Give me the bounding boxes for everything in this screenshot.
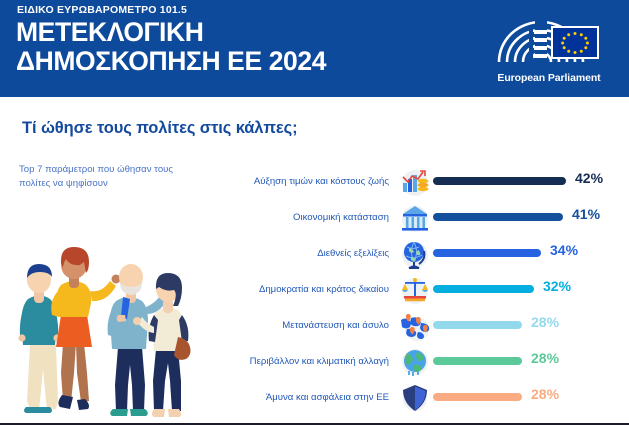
earth-globe-icon xyxy=(397,345,433,378)
poster-header: ΕΙΔΙΚΟ ΕΥΡΩΒΑΡΟΜΕΤΡΟ 101.5 ΜΕΤΕΚΛΟΓΙΚΗ Δ… xyxy=(0,0,629,97)
poster-body: Τί ώθησε τους πολίτες στις κάλπες; Top 7… xyxy=(0,97,629,423)
table-row: Διεθνείς εξελίξεις 34% xyxy=(205,237,629,270)
page-title: ΜΕΤΕΚΛΟΓΙΚΗ ΔΗΜΟΣΚΟΠΗΣΗ ΕΕ 2024 xyxy=(16,18,326,76)
bar xyxy=(433,393,522,401)
bar-label: Περιβάλλον και κλιματική αλλαγή xyxy=(205,356,397,367)
bar-track: 41% xyxy=(433,201,629,234)
bar xyxy=(433,249,541,257)
globe-stand-icon xyxy=(397,237,433,270)
bar xyxy=(433,213,563,221)
bar xyxy=(433,177,566,185)
table-row: Δημοκρατία και κράτος δικαίου xyxy=(205,273,629,306)
european-parliament-logo: European Parliament xyxy=(485,6,613,88)
bar-track: 34% xyxy=(433,237,629,270)
world-map-pins-icon xyxy=(397,309,433,342)
bar-track: 32% xyxy=(433,273,629,306)
bar xyxy=(433,357,522,365)
bar xyxy=(433,321,522,329)
bar-track: 28% xyxy=(433,345,629,378)
table-row: Περιβάλλον και κλιματική αλλαγή 28% xyxy=(205,345,629,378)
bar-value: 28% xyxy=(531,350,559,366)
logo-label: European Parliament xyxy=(485,72,613,84)
bar-label: Δημοκρατία και κράτος δικαίου xyxy=(205,284,397,295)
citizens-illustration xyxy=(6,239,202,419)
bar xyxy=(433,285,534,293)
bar-value: 42% xyxy=(575,170,603,186)
table-row: Οικονομική κατάσταση xyxy=(205,201,629,234)
bar-label: Άμυνα και ασφάλεια στην ΕΕ xyxy=(205,392,397,403)
bar-label: Διεθνείς εξελίξεις xyxy=(205,248,397,259)
table-row: Αύξηση τιμών και κόστους ζωής xyxy=(205,165,629,198)
eurobarometer-kicker: ΕΙΔΙΚΟ ΕΥΡΩΒΑΡΟΜΕΤΡΟ 101.5 xyxy=(17,4,187,16)
bar-value: 28% xyxy=(531,314,559,330)
table-row: Άμυνα και ασφάλεια στην ΕΕ 28% xyxy=(205,381,629,414)
bank-building-icon xyxy=(397,201,433,234)
section-title: Τί ώθησε τους πολίτες στις κάλπες; xyxy=(22,119,298,138)
chart-coins-icon xyxy=(397,165,433,198)
justice-scales-icon xyxy=(397,273,433,306)
bar-value: 32% xyxy=(543,278,571,294)
bar-label: Οικονομική κατάσταση xyxy=(205,212,397,223)
section-subtitle: Top 7 παράμετροι που ώθησαν τους πολίτες… xyxy=(19,163,187,190)
bar-value: 41% xyxy=(572,206,600,222)
bar-track: 28% xyxy=(433,381,629,414)
infographic-poster: ΕΙΔΙΚΟ ΕΥΡΩΒΑΡΟΜΕΤΡΟ 101.5 ΜΕΤΕΚΛΟΓΙΚΗ Δ… xyxy=(0,0,629,425)
bar-value: 28% xyxy=(531,386,559,402)
person-1 xyxy=(18,264,60,413)
shield-icon xyxy=(397,381,433,414)
bar-label: Αύξηση τιμών και κόστους ζωής xyxy=(205,176,397,187)
hemicycle-icon xyxy=(485,6,613,74)
table-row: Μετανάστευση και άσυλο xyxy=(205,309,629,342)
bar-track: 42% xyxy=(433,165,629,198)
bar-label: Μετανάστευση και άσυλο xyxy=(205,320,397,331)
bar-value: 34% xyxy=(550,242,578,258)
top-factors-bar-chart: Αύξηση τιμών και κόστους ζωής xyxy=(205,165,629,417)
bar-track: 28% xyxy=(433,309,629,342)
